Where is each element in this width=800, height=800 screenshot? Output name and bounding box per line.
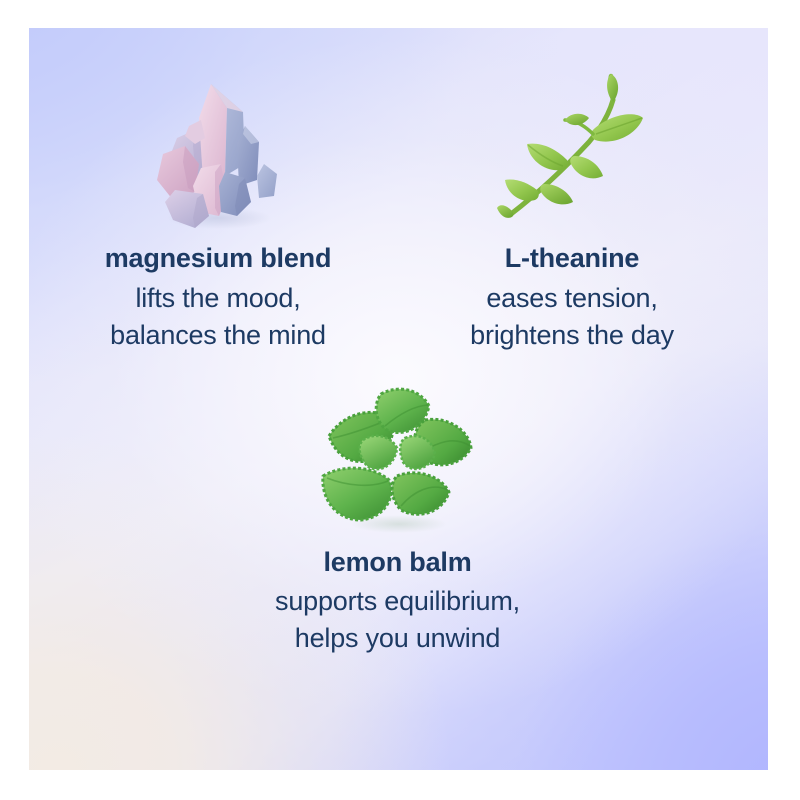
ingredient-card-lemonbalm: lemon balm supports equilibrium, helps y… — [225, 380, 570, 657]
card-description-line: helps you unwind — [275, 620, 520, 657]
ingredient-card-grid: magnesium blend lifts the mood, balances… — [29, 28, 768, 770]
card-description: supports equilibrium, helps you unwind — [275, 583, 520, 656]
card-title: magnesium blend — [105, 243, 332, 273]
card-title: L-theanine — [505, 243, 640, 273]
card-description-line: supports equilibrium, — [275, 583, 520, 620]
card-title: lemon balm — [323, 547, 471, 577]
tea-sprig-icon — [497, 68, 647, 233]
card-description-line: eases tension, — [470, 280, 674, 317]
ingredient-card-theanine: L-theanine eases tension, brightens the … — [412, 68, 732, 354]
card-description-line: lifts the mood, — [110, 280, 326, 317]
card-description-line: balances the mind — [110, 317, 326, 354]
ingredients-panel: magnesium blend lifts the mood, balances… — [29, 28, 768, 770]
card-description: eases tension, brightens the day — [470, 280, 674, 353]
card-description: lifts the mood, balances the mind — [110, 280, 326, 353]
ingredient-card-magnesium: magnesium blend lifts the mood, balances… — [58, 68, 378, 354]
mint-leaves-icon — [313, 380, 483, 535]
panel-frame: magnesium blend lifts the mood, balances… — [0, 0, 800, 800]
crystal-cluster-icon — [133, 68, 303, 233]
card-description-line: brightens the day — [470, 317, 674, 354]
